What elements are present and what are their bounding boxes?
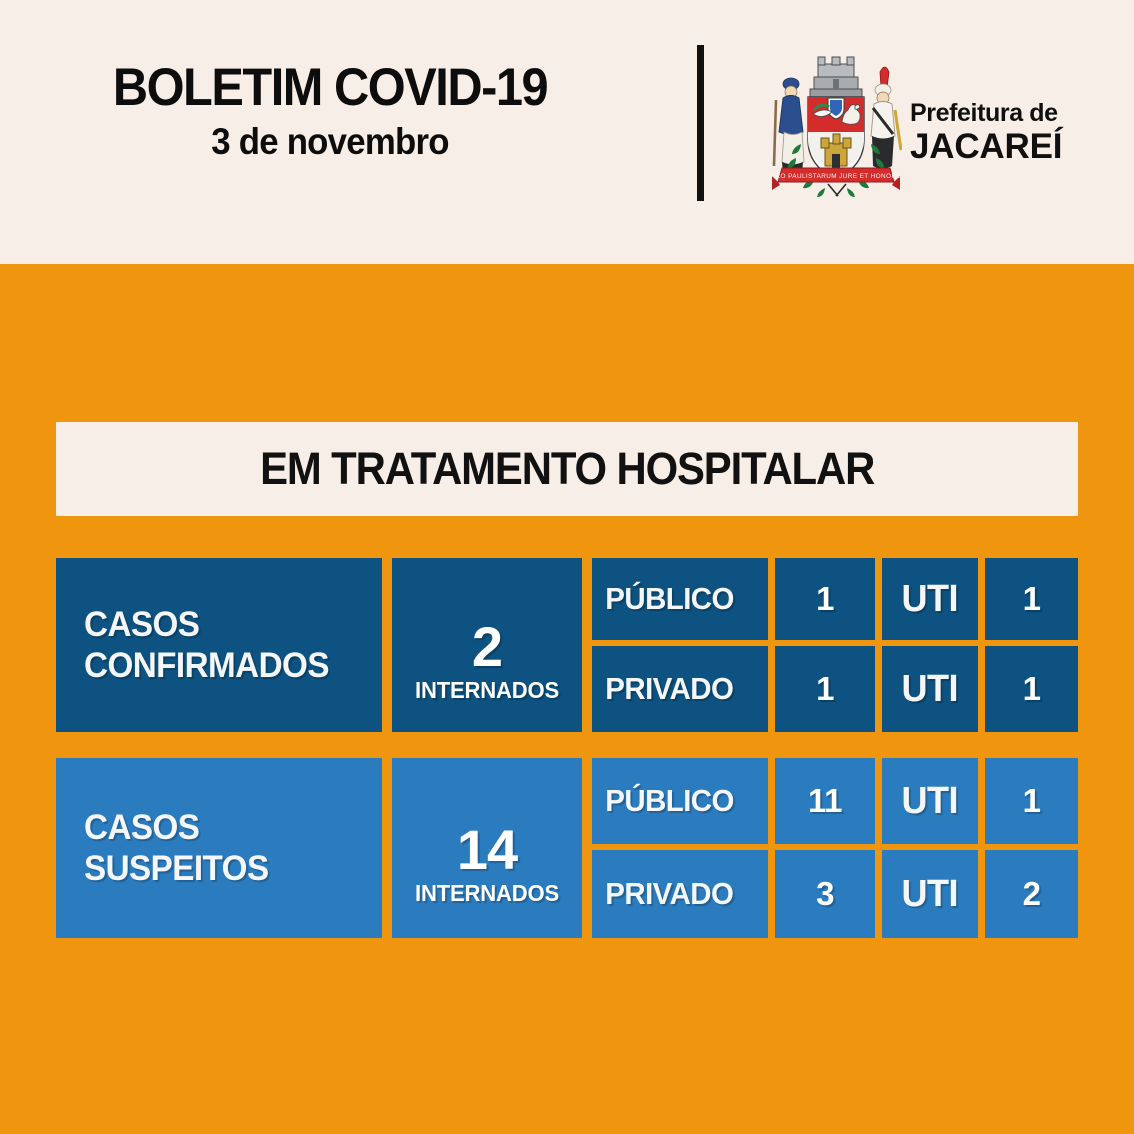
group-total-value: 14 (457, 823, 517, 878)
uti-label-cell-privado: UTI (882, 646, 978, 732)
group-casos-suspeitos: CASOS SUSPEITOS 14 INTERNADOS PÚBLICO 11… (56, 758, 1078, 938)
sector-label: PRIVADO (592, 671, 733, 707)
city-brand: PRO PAULISTARUM JURE ET HONORE Prefeitur… (770, 48, 1070, 208)
group-label-line1: CASOS (84, 807, 269, 848)
group-total-cell: 2 INTERNADOS (392, 558, 582, 732)
svg-text:PRO PAULISTARUM JURE ET HONORE: PRO PAULISTARUM JURE ET HONORE (771, 173, 901, 180)
sector-count-value: 1 (816, 670, 834, 708)
page-title: BOLETIM COVID-19 (26, 60, 633, 116)
poster-header: BOLETIM COVID-19 3 de novembro (0, 0, 1134, 264)
sector-cell-publico: PÚBLICO (592, 558, 768, 640)
header-title-block: BOLETIM COVID-19 3 de novembro (0, 60, 660, 162)
uti-count-value: 1 (1023, 580, 1041, 618)
sector-cell-privado: PRIVADO (592, 850, 768, 938)
sector-label: PÚBLICO (592, 783, 734, 819)
sector-label: PÚBLICO (592, 581, 734, 617)
group-label-line2: SUSPEITOS (84, 848, 269, 889)
group-total-cell: 14 INTERNADOS (392, 758, 582, 938)
group-label-line1: CASOS (84, 604, 329, 645)
section-banner: EM TRATAMENTO HOSPITALAR (56, 422, 1078, 516)
group-label-cell: CASOS SUSPEITOS (56, 758, 382, 938)
sector-count-cell-publico: 11 (775, 758, 875, 844)
group-total-value: 2 (472, 620, 502, 675)
uti-count-cell-publico: 1 (985, 758, 1078, 844)
sector-count-cell-privado: 1 (775, 646, 875, 732)
uti-count-cell-privado: 1 (985, 646, 1078, 732)
sector-count-cell-publico: 1 (775, 558, 875, 640)
sector-label: PRIVADO (592, 876, 733, 912)
sector-cell-publico: PÚBLICO (592, 758, 768, 844)
group-total-caption: INTERNADOS (415, 677, 559, 704)
header-divider (697, 45, 704, 201)
jacarei-coat-of-arms-icon: PRO PAULISTARUM JURE ET HONORE (770, 48, 902, 200)
uti-label: UTI (902, 780, 958, 823)
sector-cell-privado: PRIVADO (592, 646, 768, 732)
uti-count-value: 1 (1023, 782, 1041, 820)
sector-count-cell-privado: 3 (775, 850, 875, 938)
group-total-caption: INTERNADOS (415, 880, 559, 907)
uti-label: UTI (902, 668, 958, 711)
group-casos-confirmados: CASOS CONFIRMADOS 2 INTERNADOS PÚBLICO 1… (56, 558, 1078, 732)
section-banner-title: EM TRATAMENTO HOSPITALAR (260, 443, 874, 495)
uti-label: UTI (902, 578, 958, 621)
uti-label-cell-publico: UTI (882, 758, 978, 844)
group-label-line2: CONFIRMADOS (84, 645, 329, 686)
uti-count-cell-privado: 2 (985, 850, 1078, 938)
uti-label-cell-privado: UTI (882, 850, 978, 938)
brand-city-name: JACAREÍ (910, 128, 1070, 167)
sector-count-value: 1 (816, 580, 834, 618)
covid-bulletin-poster: BOLETIM COVID-19 3 de novembro (0, 0, 1134, 1134)
uti-label: UTI (902, 873, 958, 916)
uti-count-value: 1 (1023, 670, 1041, 708)
bulletin-date: 3 de novembro (20, 122, 640, 163)
uti-label-cell-publico: UTI (882, 558, 978, 640)
uti-count-cell-publico: 1 (985, 558, 1078, 640)
sector-count-value: 3 (816, 875, 834, 913)
uti-count-value: 2 (1023, 875, 1041, 913)
group-label-cell: CASOS CONFIRMADOS (56, 558, 382, 732)
brand-prefecture-label: Prefeitura de (910, 100, 1070, 126)
poster-body: EM TRATAMENTO HOSPITALAR CASOS CONFIRMAD… (0, 264, 1134, 1134)
sector-count-value: 11 (808, 782, 842, 820)
brand-text-block: Prefeitura de JACAREÍ (910, 100, 1070, 167)
